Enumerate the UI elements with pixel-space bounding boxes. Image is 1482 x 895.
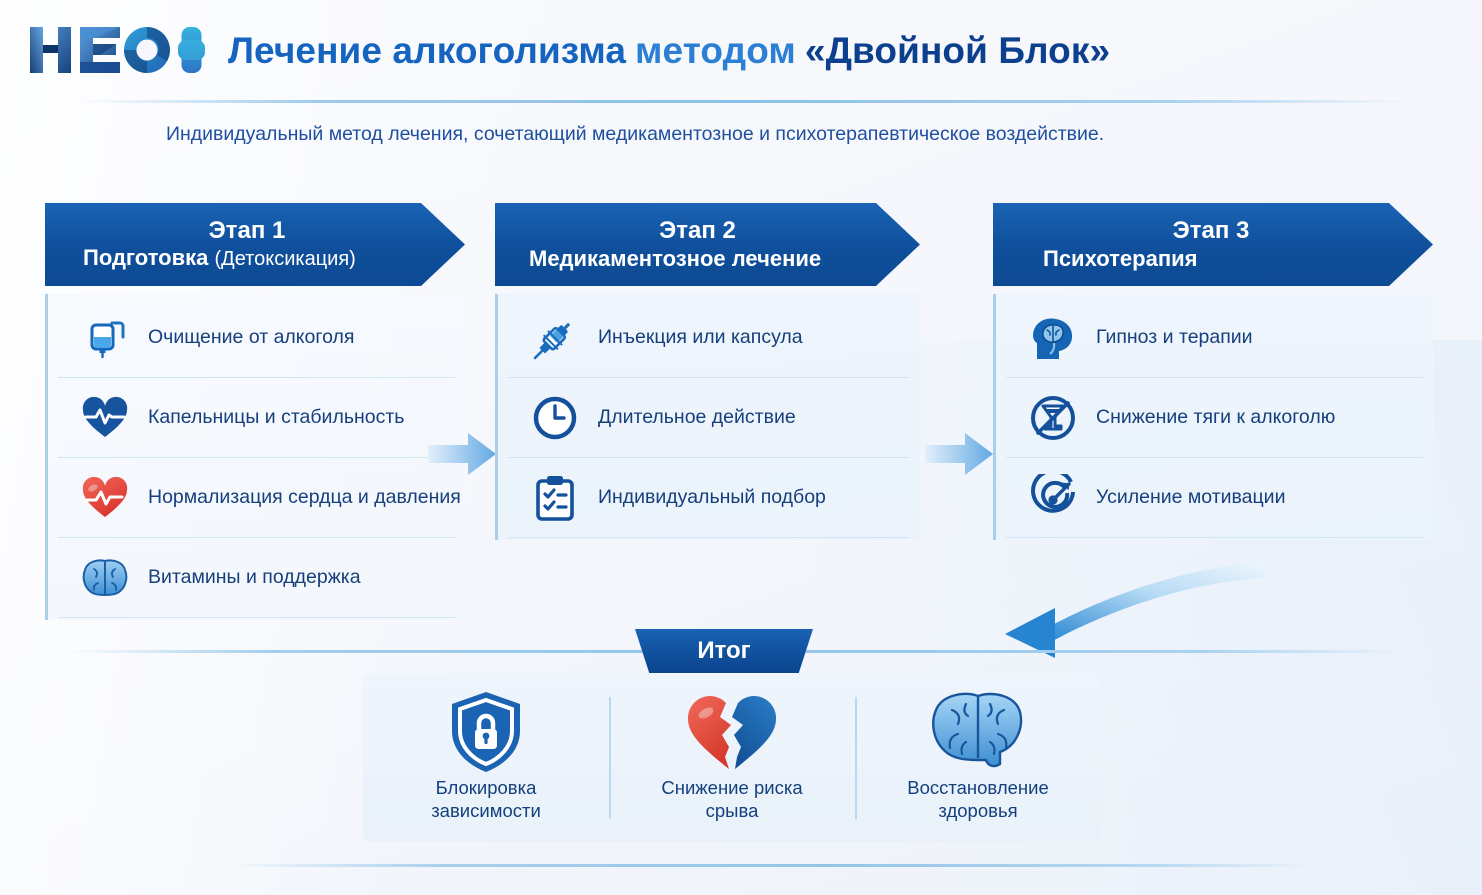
stage-1-name-paren: (Детоксикация) xyxy=(215,248,356,270)
stage-1-number: Этап 1 xyxy=(83,218,411,244)
list-item-label: Витамины и поддержка xyxy=(148,566,361,589)
stage-2-name: Медикаментозное лечение xyxy=(529,246,866,271)
heart-pulse-blue-icon xyxy=(80,393,130,443)
list-item-label: Длительное действие xyxy=(598,406,796,429)
target-arrow-icon xyxy=(1028,473,1078,523)
broken-heart-icon xyxy=(684,695,780,769)
stage-2-number: Этап 2 xyxy=(529,218,866,244)
list-item[interactable]: Длительное действие xyxy=(508,378,910,458)
no-alcohol-glass-icon xyxy=(1028,393,1078,443)
list-item-label: Очищение от алкоголя xyxy=(148,326,354,349)
footer-divider xyxy=(230,864,1310,867)
list-item-label: Усиление мотивации xyxy=(1096,486,1285,509)
neo-plus-logo xyxy=(28,21,206,79)
stage-card-2: Этап 2 Медикаментозное лечение xyxy=(495,203,920,540)
list-item-label: Инъекция или капсула xyxy=(598,326,803,349)
result-cell-block[interactable]: Блокировка зависимости xyxy=(363,695,609,821)
stage-3-panel: Гипноз и терапии Снижение тяги к алкогол… xyxy=(993,294,1433,540)
header-divider xyxy=(80,100,1410,103)
stage-2-panel: Инъекция или капсула Длительное действие xyxy=(495,294,920,540)
list-item[interactable]: Очищение от алкоголя xyxy=(58,298,455,378)
title-part-1: Лечение алкоголизма xyxy=(228,32,626,69)
result-cell-caption: Снижение риска срыва xyxy=(661,777,802,822)
stage-1-panel: Очищение от алкоголя Капельницы и стабил… xyxy=(45,294,465,620)
stage-1-name: Подготовка (Детоксикация) xyxy=(83,245,411,271)
list-item[interactable]: Капельницы и стабильность xyxy=(58,378,455,458)
list-item-label: Нормализация сердца и давления xyxy=(148,486,461,509)
list-item[interactable]: Гипноз и терапии xyxy=(1006,298,1423,378)
stage-2-banner: Этап 2 Медикаментозное лечение xyxy=(495,203,920,286)
stage-3-name: Психотерапия xyxy=(1043,246,1379,271)
result-cell-caption: Блокировка зависимости xyxy=(431,777,541,822)
arrow-right-icon xyxy=(925,431,993,477)
shield-lock-icon xyxy=(446,695,526,769)
stage-card-3: Этап 3 Психотерапия Гипноз и терапии xyxy=(993,203,1433,540)
iv-drip-icon xyxy=(80,313,130,363)
stage-1-name-main: Подготовка xyxy=(83,245,208,270)
brain-icon xyxy=(80,553,130,603)
brain-recovery-icon xyxy=(926,695,1030,769)
result-cell-block[interactable]: Восстановление здоровья xyxy=(855,695,1101,821)
page-subtitle: Индивидуальный метод лечения, сочетающий… xyxy=(166,123,1104,146)
list-item-label: Гипноз и терапии xyxy=(1096,326,1253,349)
list-item[interactable]: Витамины и поддержка xyxy=(58,538,455,618)
result-cell-block[interactable]: Снижение риска срыва xyxy=(609,695,855,821)
stage-card-1: Этап 1 Подготовка (Детоксикация) Очищен xyxy=(45,203,465,620)
result-cell-caption: Восстановление здоровья xyxy=(907,777,1049,822)
page-title: Лечение алкоголизма методом «Двойной Бло… xyxy=(228,32,1110,69)
title-part-3: «Двойной Блок» xyxy=(805,32,1110,69)
stage-3-banner: Этап 3 Психотерапия xyxy=(993,203,1433,286)
arrow-right-icon xyxy=(428,431,496,477)
list-item[interactable]: Нормализация сердца и давления xyxy=(58,458,455,538)
heart-pulse-red-icon xyxy=(80,473,130,523)
clipboard-checklist-icon xyxy=(530,473,580,523)
list-item-label: Индивидуальный подбор xyxy=(598,486,826,509)
syringe-icon xyxy=(530,313,580,363)
list-item[interactable]: Усиление мотивации xyxy=(1006,458,1423,538)
head-brain-icon xyxy=(1028,313,1078,363)
clock-icon xyxy=(530,393,580,443)
stage-3-number: Этап 3 xyxy=(1043,218,1379,244)
result-panel: Блокировка зависимости Снижение риска ср… xyxy=(363,674,1101,842)
result-banner: Итог xyxy=(635,629,813,673)
list-item[interactable]: Индивидуальный подбор xyxy=(508,458,910,538)
title-part-2: методом xyxy=(635,32,796,69)
list-item[interactable]: Снижение тяги к алкоголю xyxy=(1006,378,1423,458)
page-header: Лечение алкоголизма методом «Двойной Бло… xyxy=(0,0,1482,100)
list-item-label: Капельницы и стабильность xyxy=(148,406,404,429)
list-item-label: Снижение тяги к алкоголю xyxy=(1096,406,1335,429)
stage-1-banner: Этап 1 Подготовка (Детоксикация) xyxy=(45,203,465,286)
list-item[interactable]: Инъекция или капсула xyxy=(508,298,910,378)
